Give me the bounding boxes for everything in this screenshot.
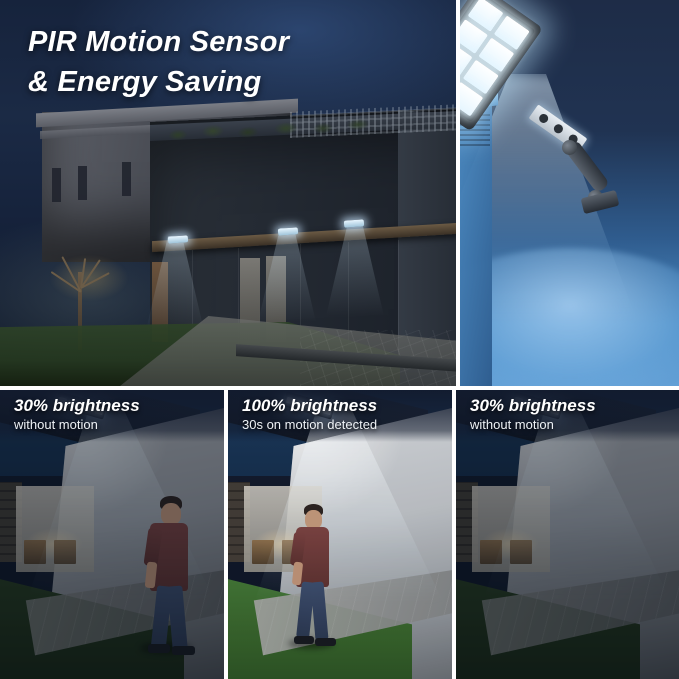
caption-title: 30% brightness	[470, 396, 596, 416]
background-window	[52, 168, 61, 202]
led-panel-grid	[460, 0, 535, 122]
wall-bracket	[581, 190, 620, 214]
wall-lamp	[278, 227, 298, 235]
caption-title: 30% brightness	[14, 396, 140, 416]
tree-foliage	[34, 244, 144, 314]
product-showcase-panel	[460, 0, 679, 386]
panel-divider-2	[452, 390, 456, 679]
background-window	[78, 166, 87, 200]
ground-light-pool	[460, 248, 679, 386]
comparison-panel-3: 30% brightness without motion	[456, 390, 679, 679]
lamp-head-housing	[460, 0, 543, 132]
comparison-panel-1: 30% brightness without motion	[0, 390, 224, 679]
wall-lamp	[344, 219, 364, 227]
solar-light-fixture	[466, 2, 656, 212]
horizontal-divider	[0, 386, 679, 390]
caption-title: 100% brightness	[242, 396, 377, 416]
arm-joint-upper	[562, 140, 577, 155]
caption-subtitle: without motion	[14, 417, 140, 433]
panel-divider-1	[224, 390, 228, 679]
caption-subtitle: 30s on motion detected	[242, 417, 377, 433]
panel-caption-3: 30% brightness without motion	[470, 396, 596, 433]
pir-sensor-dot	[552, 122, 565, 135]
vertical-divider	[456, 0, 460, 386]
headline-line-1: PIR Motion Sensor	[28, 26, 289, 58]
wall-lamp	[168, 235, 188, 243]
comparison-panel-2: 100% brightness 30s on motion detected	[228, 390, 452, 679]
panel-caption-1: 30% brightness without motion	[14, 396, 140, 433]
panel-caption-2: 100% brightness 30s on motion detected	[242, 396, 377, 433]
background-window	[122, 162, 131, 196]
pir-sensor-dot	[537, 112, 550, 125]
headline-line-2: & Energy Saving	[28, 66, 261, 98]
top-area: PIR Motion Sensor & Energy Saving	[0, 0, 679, 386]
page-title: PIR Motion Sensor & Energy Saving	[28, 22, 289, 102]
hero-night-house-scene: PIR Motion Sensor & Energy Saving	[0, 0, 456, 386]
product-infographic: PIR Motion Sensor & Energy Saving	[0, 0, 679, 679]
main-house-side	[398, 110, 456, 364]
caption-subtitle: without motion	[470, 417, 596, 433]
